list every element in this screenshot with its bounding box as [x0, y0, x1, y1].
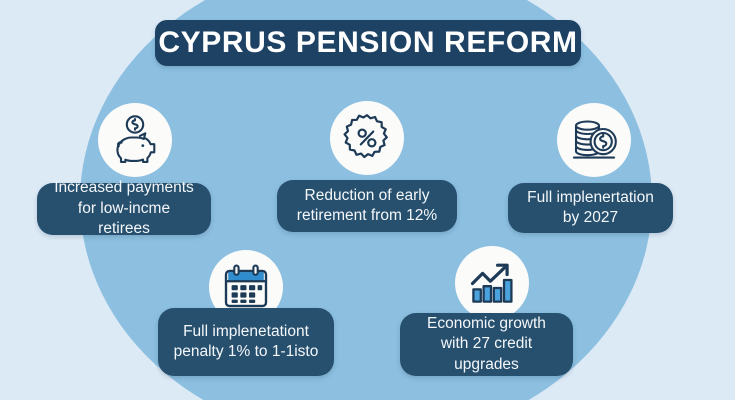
card-line-1: Full implenetationt: [183, 323, 309, 340]
card-early-retirement-reduction: Reduction of early retirement from 12%: [277, 180, 457, 232]
card-economic-growth-text: Economic growth with 27 credit upgrades: [414, 314, 559, 375]
growth-chart-icon: [455, 246, 529, 320]
card-penalty-schedule: Full implenetationt penalty 1% to 1-1ist…: [158, 308, 334, 376]
card-line-3: upgrades: [454, 356, 519, 373]
card-line-2: penalty 1% to 1-1isto: [174, 343, 319, 360]
card-line-2: by 2027: [563, 209, 618, 226]
card-line-1: Reduction of early: [305, 187, 430, 204]
card-line-1: Full implenertation: [527, 189, 654, 206]
card-line-2: with 27 credit: [441, 335, 532, 352]
card-line-1: Increased payments: [54, 179, 194, 196]
card-increased-payments: Increased payments for low-incme retiree…: [37, 183, 211, 235]
page-title: CYPRUS PENSION REFORM: [155, 20, 581, 66]
card-line-2: retirement from 12%: [297, 207, 437, 224]
piggy-bank-icon: [98, 103, 172, 177]
card-line-1: Economic growth: [427, 315, 546, 332]
card-full-implementation-2027-text: Full implenertation by 2027: [514, 188, 667, 229]
coin-stack-icon: [557, 103, 631, 177]
card-full-implementation-2027: Full implenertation by 2027: [508, 183, 673, 233]
percent-badge-icon: [330, 101, 404, 175]
card-increased-payments-text: Increased payments for low-incme retiree…: [37, 178, 211, 239]
card-economic-growth: Economic growth with 27 credit upgrades: [400, 313, 573, 376]
infographic-canvas: CYPRUS PENSION REFORM: [0, 0, 735, 400]
card-early-retirement-reduction-text: Reduction of early retirement from 12%: [284, 186, 450, 227]
page-title-text: CYPRUS PENSION REFORM: [158, 28, 577, 58]
card-line-2: for low-incme retirees: [78, 200, 170, 237]
card-penalty-schedule-text: Full implenetationt penalty 1% to 1-1ist…: [161, 322, 332, 363]
